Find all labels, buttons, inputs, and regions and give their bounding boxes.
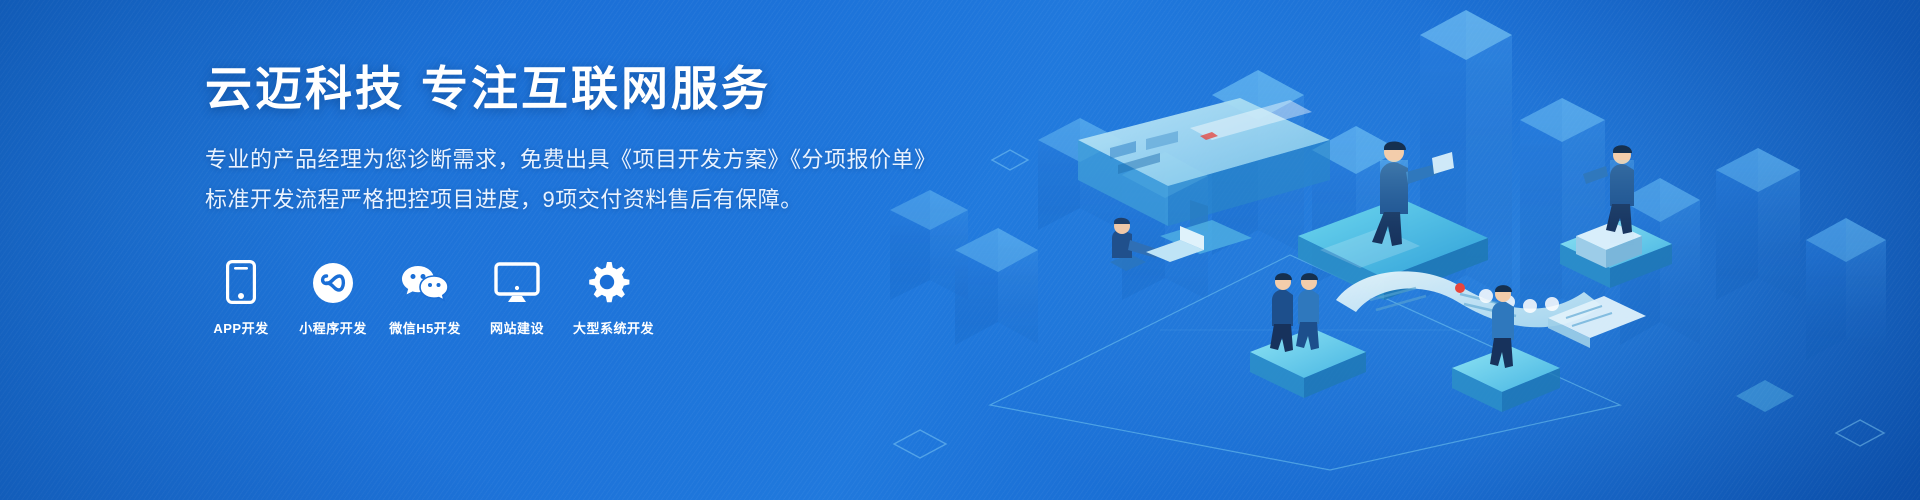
service-item-app[interactable]: APP开发 <box>205 258 277 337</box>
banner-description: 专业的产品经理为您诊断需求，免费出具《项目开发方案》《分项报价单》 标准开发流程… <box>205 141 965 220</box>
description-line-2: 标准开发流程严格把控项目进度，9项交付资料售后有保障。 <box>205 181 965 220</box>
page-title: 云迈科技 专注互联网服务 <box>205 60 965 119</box>
isometric-tech-illustration <box>860 0 1920 500</box>
service-item-system[interactable]: 大型系统开发 <box>573 258 645 337</box>
description-line-1: 专业的产品经理为您诊断需求，免费出具《项目开发方案》《分项报价单》 <box>205 141 965 180</box>
gear-icon <box>573 258 645 304</box>
banner-content: 云迈科技 专注互联网服务 专业的产品经理为您诊断需求，免费出具《项目开发方案》《… <box>205 60 965 337</box>
service-label-website: 网站建设 <box>481 318 553 337</box>
service-label-wechat: 微信H5开发 <box>389 318 461 337</box>
lower-left-podium <box>1250 328 1366 398</box>
service-label-miniprogram: 小程序开发 <box>297 318 369 337</box>
service-label-app: APP开发 <box>205 318 277 337</box>
decorative-diamond-filled <box>1736 380 1794 412</box>
service-item-miniprogram[interactable]: 小程序开发 <box>297 258 369 337</box>
mini-program-icon <box>297 258 369 304</box>
promo-banner: 云迈科技 专注互联网服务 专业的产品经理为您诊断需求，免费出具《项目开发方案》《… <box>0 0 1920 500</box>
service-item-wechat[interactable]: 微信H5开发 <box>389 258 461 337</box>
monitor-icon <box>481 258 553 304</box>
wechat-icon <box>389 258 461 304</box>
service-label-system: 大型系统开发 <box>573 318 645 337</box>
service-item-website[interactable]: 网站建设 <box>481 258 553 337</box>
service-icon-list: APP开发 小程序开发 <box>205 258 965 337</box>
mobile-phone-icon <box>205 258 277 304</box>
